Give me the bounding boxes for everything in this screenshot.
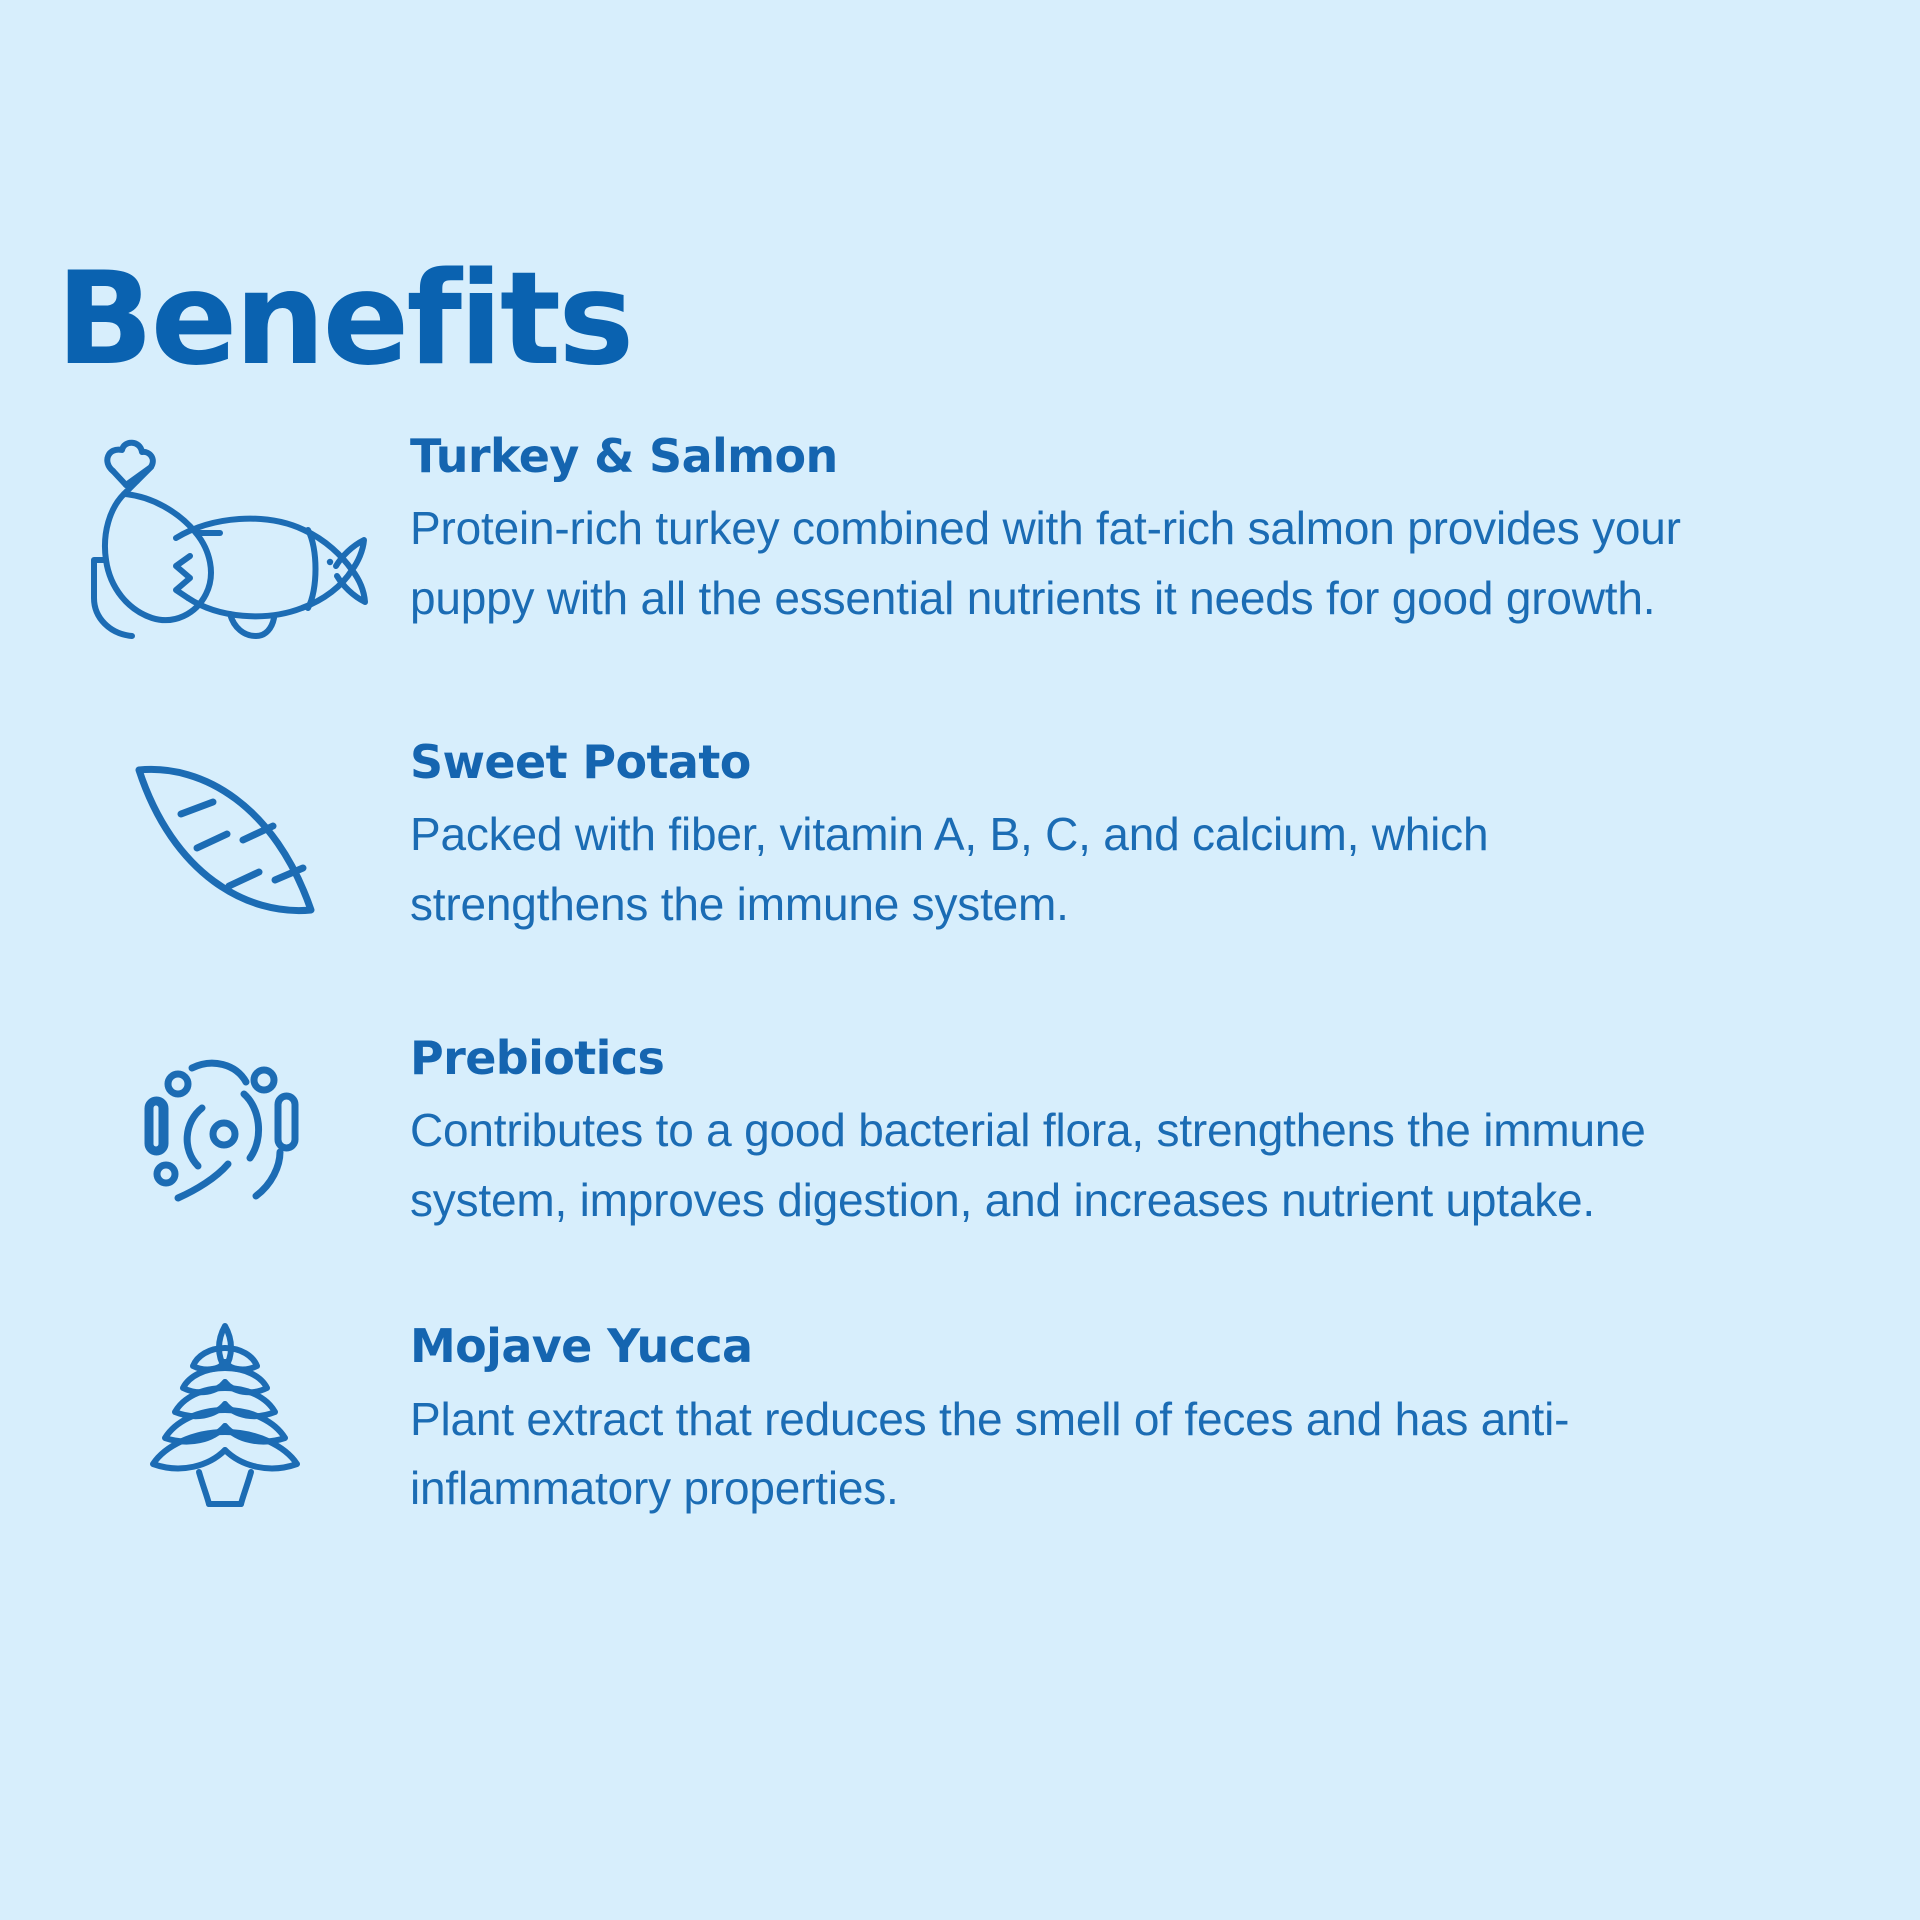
benefit-description: Packed with fiber, vitamin A, B, C, and … (410, 800, 1730, 940)
benefit-text-block: Mojave Yucca Plant extract that reduces … (410, 1320, 1920, 1524)
benefits-list: Turkey & Salmon Protein-rich turkey comb… (0, 430, 1920, 1524)
benefit-heading: Turkey & Salmon (410, 432, 1880, 480)
benefit-description: Plant extract that reduces the smell of … (410, 1385, 1730, 1525)
benefit-text-block: Sweet Potato Packed with fiber, vitamin … (410, 736, 1920, 940)
benefit-heading: Sweet Potato (410, 738, 1880, 786)
benefit-item-turkey-salmon: Turkey & Salmon Protein-rich turkey comb… (0, 430, 1920, 658)
mojave-yucca-plant-icon (40, 1320, 410, 1512)
turkey-drumstick-and-salmon-icon (40, 430, 410, 658)
prebiotics-bacteria-icon (40, 1032, 410, 1216)
benefit-heading: Mojave Yucca (410, 1322, 1880, 1370)
benefit-description: Contributes to a good bacterial flora, s… (410, 1096, 1730, 1236)
benefit-item-sweet-potato: Sweet Potato Packed with fiber, vitamin … (0, 736, 1920, 940)
benefit-heading: Prebiotics (410, 1034, 1880, 1082)
benefit-text-block: Turkey & Salmon Protein-rich turkey comb… (410, 430, 1920, 634)
benefit-item-prebiotics: Prebiotics Contributes to a good bacteri… (0, 1032, 1920, 1236)
benefit-description: Protein-rich turkey combined with fat-ri… (410, 494, 1730, 634)
benefits-page: Benefits (0, 0, 1920, 1920)
benefit-text-block: Prebiotics Contributes to a good bacteri… (410, 1032, 1920, 1236)
page-title: Benefits (56, 256, 631, 384)
benefit-item-mojave-yucca: Mojave Yucca Plant extract that reduces … (0, 1320, 1920, 1524)
sweet-potato-icon (40, 736, 410, 930)
